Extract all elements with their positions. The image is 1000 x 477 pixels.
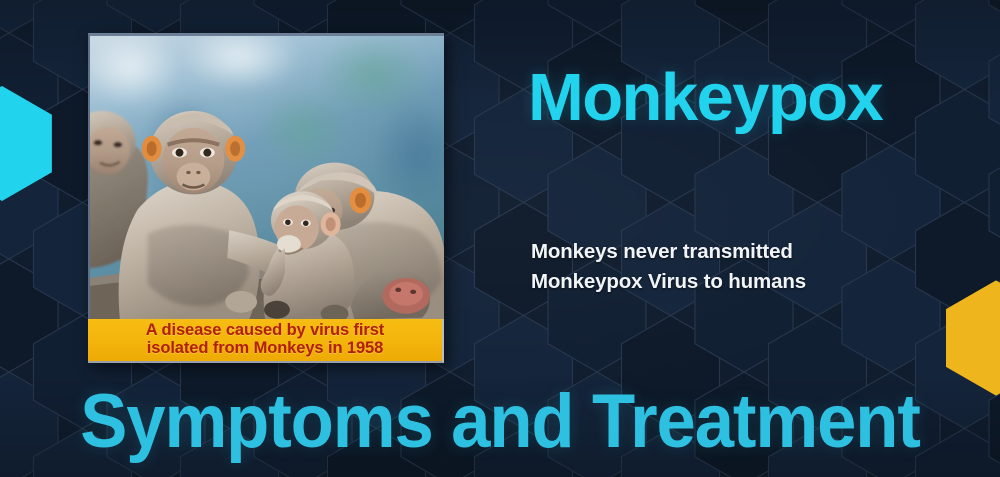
photo-caption-bar: A disease caused by virus first isolated… <box>88 319 444 363</box>
monkey-photo-card: A disease caused by virus first isolated… <box>88 33 444 363</box>
subtitle-line-1: Monkeys never transmitted <box>531 237 806 267</box>
bottom-heading: Symptoms and Treatment <box>35 384 965 460</box>
monkey-photo-frame <box>88 33 444 319</box>
monkeypox-slide: A disease caused by virus first isolated… <box>0 0 1000 477</box>
group-of-macaque-monkeys-photo <box>90 36 444 319</box>
caption-line-2: isolated from Monkeys in 1958 <box>147 340 383 358</box>
page-title: Monkeypox <box>528 64 882 131</box>
subtitle-line-2: Monkeypox Virus to humans <box>531 267 806 297</box>
caption-line-1: A disease caused by virus first <box>146 322 384 340</box>
subtitle-text: Monkeys never transmitted Monkeypox Viru… <box>531 237 806 296</box>
cyan-hexagon-accent <box>0 86 52 201</box>
